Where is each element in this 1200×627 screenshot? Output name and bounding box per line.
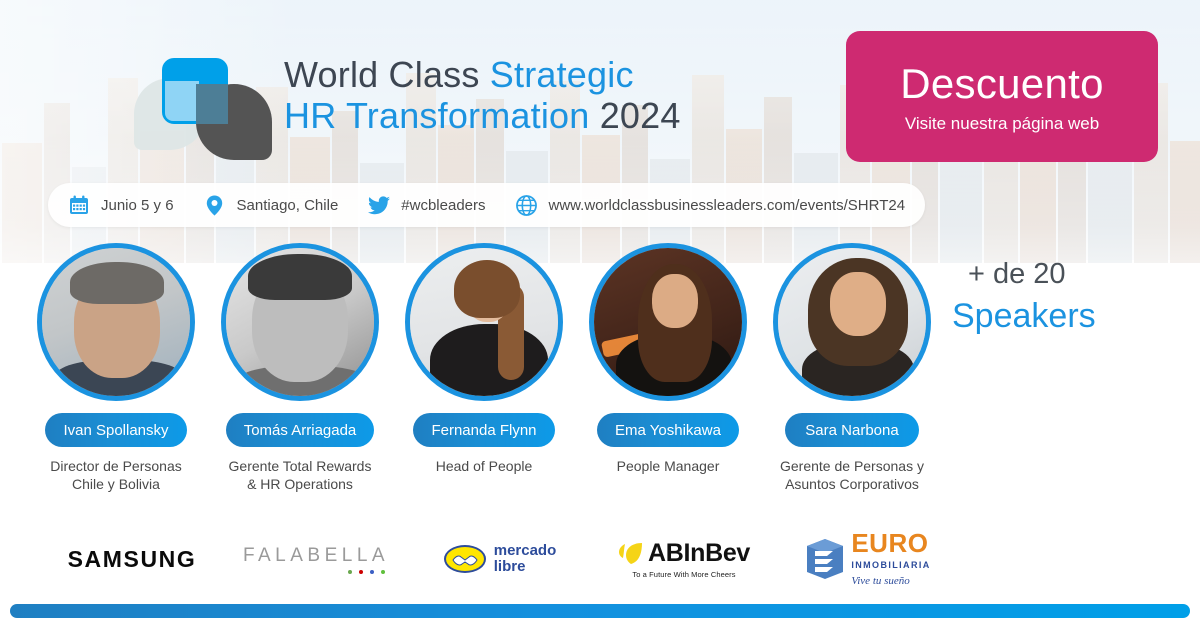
event-promo-banner: World Class Strategic HR Transformation … xyxy=(0,0,1200,627)
discount-title: Descuento xyxy=(900,60,1104,108)
euro-subtitle: INMOBILIARIA xyxy=(851,560,930,570)
samsung-logo-text: SAMSUNG xyxy=(68,546,197,573)
speech-bubbles-logo xyxy=(134,56,284,152)
speakers-count-block: + de 20 Speakers xyxy=(952,258,1172,336)
sponsor-samsung: SAMSUNG xyxy=(40,528,224,590)
speaker-card: Sara Narbona Gerente de Personas y Asunt… xyxy=(760,243,944,494)
speaker-card: Ema Yoshikawa People Manager xyxy=(576,243,760,494)
euro-tagline: Vive tu sueño xyxy=(851,575,909,587)
globe-icon xyxy=(516,194,538,216)
event-title: World Class Strategic HR Transformation … xyxy=(284,56,904,135)
speaker-name-pill: Ivan Spollansky xyxy=(45,413,186,447)
discount-badge[interactable]: Descuento Visite nuestra página web xyxy=(846,31,1158,162)
event-location-text: Santiago, Chile xyxy=(237,197,339,214)
logo-overlap-shape xyxy=(196,84,228,124)
title-year: 2024 xyxy=(600,95,681,136)
speaker-role: Gerente de Personas y Asuntos Corporativ… xyxy=(780,457,924,494)
info-item-twitter[interactable]: #wcbleaders xyxy=(368,194,485,216)
sponsor-falabella: FALABELLA xyxy=(224,528,408,590)
location-pin-icon xyxy=(204,194,226,216)
speaker-name-pill: Sara Narbona xyxy=(785,413,919,447)
falabella-logo-text: FALABELLA xyxy=(243,545,389,567)
info-item-date: Junio 5 y 6 xyxy=(68,194,174,216)
speakers-count-prefix: + de 20 xyxy=(952,258,1172,291)
twitter-handle-text: #wcbleaders xyxy=(401,197,485,214)
event-date-text: Junio 5 y 6 xyxy=(101,197,174,214)
discount-subtitle: Visite nuestra página web xyxy=(905,114,1099,134)
speakers-row: Ivan Spollansky Director de Personas Chi… xyxy=(24,243,944,494)
sponsor-mercadolibre: mercado libre xyxy=(408,528,592,590)
event-info-bar: Junio 5 y 6 Santiago, Chile #wcbleaders xyxy=(48,183,925,227)
sponsor-euro-inmobiliaria: EURO INMOBILIARIA Vive tu sueño xyxy=(776,528,960,590)
bottom-accent-bar xyxy=(10,604,1190,618)
speaker-role: Director de Personas Chile y Bolivia xyxy=(50,457,182,494)
twitter-bird-icon xyxy=(368,194,390,216)
speaker-avatar xyxy=(37,243,195,401)
mercadolibre-line1: mercado xyxy=(494,542,557,559)
website-url-text: www.worldclassbusinessleaders.com/events… xyxy=(549,197,906,214)
speaker-card: Ivan Spollansky Director de Personas Chi… xyxy=(24,243,208,494)
abinbev-leaf-icon xyxy=(618,541,644,567)
abinbev-logo-text: ABInBev xyxy=(648,539,750,568)
mercadolibre-handshake-icon xyxy=(444,545,486,573)
speaker-avatar xyxy=(773,243,931,401)
speaker-avatar xyxy=(405,243,563,401)
euro-cube-icon xyxy=(805,538,845,580)
speakers-count-label: Speakers xyxy=(952,297,1172,336)
title-line1-blue: Strategic xyxy=(490,54,634,95)
speaker-name-pill: Fernanda Flynn xyxy=(413,413,554,447)
sponsor-logos-row: SAMSUNG FALABELLA xyxy=(40,528,960,590)
euro-logo-text: EURO xyxy=(851,528,928,558)
info-item-website[interactable]: www.worldclassbusinessleaders.com/events… xyxy=(516,194,906,216)
speaker-card: Fernanda Flynn Head of People xyxy=(392,243,576,494)
speaker-avatar xyxy=(221,243,379,401)
calendar-icon xyxy=(68,194,90,216)
speaker-avatar xyxy=(589,243,747,401)
mercadolibre-line2: libre xyxy=(494,558,526,575)
sponsor-abinbev: ABInBev To a Future With More Cheers xyxy=(592,528,776,590)
speaker-role: People Manager xyxy=(617,457,720,475)
info-item-location: Santiago, Chile xyxy=(204,194,339,216)
abinbev-tagline: To a Future With More Cheers xyxy=(618,570,750,579)
title-line2-blue: HR Transformation xyxy=(284,95,600,136)
speaker-name-pill: Tomás Arriagada xyxy=(226,413,375,447)
speaker-name-pill: Ema Yoshikawa xyxy=(597,413,739,447)
speaker-role: Gerente Total Rewards & HR Operations xyxy=(229,457,372,494)
title-line1-dark: World Class xyxy=(284,54,490,95)
speaker-role: Head of People xyxy=(436,457,533,475)
falabella-dots-icon xyxy=(243,570,389,574)
speaker-card: Tomás Arriagada Gerente Total Rewards & … xyxy=(208,243,392,494)
